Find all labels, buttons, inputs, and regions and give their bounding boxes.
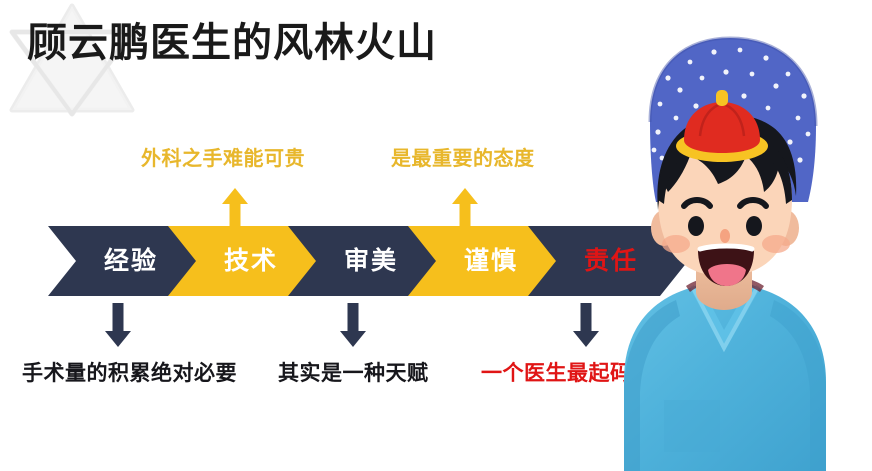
nose (720, 229, 730, 243)
eyes (684, 200, 766, 236)
top-callout-caution: 是最重要的态度 (391, 142, 535, 171)
process-chevron-strip: 经验 技术 审美 谨慎 责任 (48, 226, 648, 296)
mouth (698, 246, 754, 287)
arrow-down-icon-experience (105, 303, 131, 347)
surgical-cap (650, 38, 816, 202)
process-step-label: 责任 (578, 249, 638, 274)
arrow-down-icon-responsibility (573, 303, 599, 347)
top-callout-technique: 外科之手难能可贵 (141, 142, 305, 171)
process-step-label: 技术 (218, 249, 278, 274)
process-step-label: 谨慎 (458, 249, 518, 274)
process-step-label: 经验 (98, 249, 158, 274)
process-step-label: 审美 (338, 249, 398, 274)
bottom-callout-responsibility: 一个医生最起码的良心 (481, 357, 696, 387)
bottom-callout-aesthetics: 其实是一种天赋 (278, 357, 429, 387)
slide-canvas: 顾云鹏医生的风林火山 外科之手难能可贵 是最重要的态度 经验 技术 (0, 0, 872, 471)
arrow-down-icon-aesthetics (340, 303, 366, 347)
neck (696, 232, 752, 310)
bottom-callout-experience: 手术量的积累绝对必要 (22, 357, 237, 387)
process-step-responsibility[interactable]: 责任 (528, 226, 688, 296)
hair (657, 114, 796, 210)
page-title: 顾云鹏医生的风林火山 (27, 20, 437, 66)
mini-hat (676, 90, 768, 162)
